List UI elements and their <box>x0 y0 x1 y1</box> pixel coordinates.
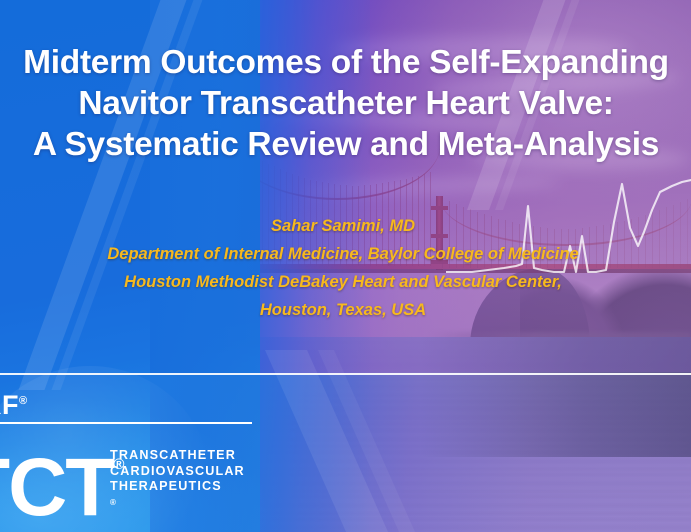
author-affiliation-block: Sahar Samimi, MD Department of Internal … <box>0 212 691 324</box>
logo-word-3: THERAPEUTICS <box>110 479 245 495</box>
crf-text: CRF <box>0 390 19 420</box>
divider <box>0 373 691 375</box>
registered-mark: ® <box>19 395 28 407</box>
title-line-2: Navitor Transcatheter Heart Valve: <box>0 83 691 124</box>
tct-logo: CRF® TCT® TRANSCATHETER CARDIOVASCULAR T… <box>0 386 292 506</box>
affiliation-line-2: Houston Methodist DeBakey Heart and Vasc… <box>0 268 691 296</box>
title-line-3: A Systematic Review and Meta-Analysis <box>0 124 691 165</box>
author-name: Sahar Samimi, MD <box>0 212 691 240</box>
tct-text: TCT <box>0 442 113 532</box>
presentation-slide: Midterm Outcomes of the Self-Expanding N… <box>0 0 691 532</box>
title-line-1: Midterm Outcomes of the Self-Expanding <box>0 42 691 83</box>
logo-word-1: TRANSCATHETER <box>110 448 245 464</box>
slide-title: Midterm Outcomes of the Self-Expanding N… <box>0 42 691 165</box>
affiliation-line-3: Houston, Texas, USA <box>0 296 691 324</box>
tct-wordmark: TCT® <box>0 422 124 531</box>
logo-word-3-wrap: THERAPEUTICS® <box>110 479 245 514</box>
tct-expansion: TRANSCATHETER CARDIOVASCULAR THERAPEUTIC… <box>110 448 245 514</box>
affiliation-line-1: Department of Internal Medicine, Baylor … <box>0 240 691 268</box>
registered-mark: ® <box>110 498 116 507</box>
logo-word-2: CARDIOVASCULAR <box>110 464 245 480</box>
crf-wordmark: CRF® <box>0 386 28 420</box>
